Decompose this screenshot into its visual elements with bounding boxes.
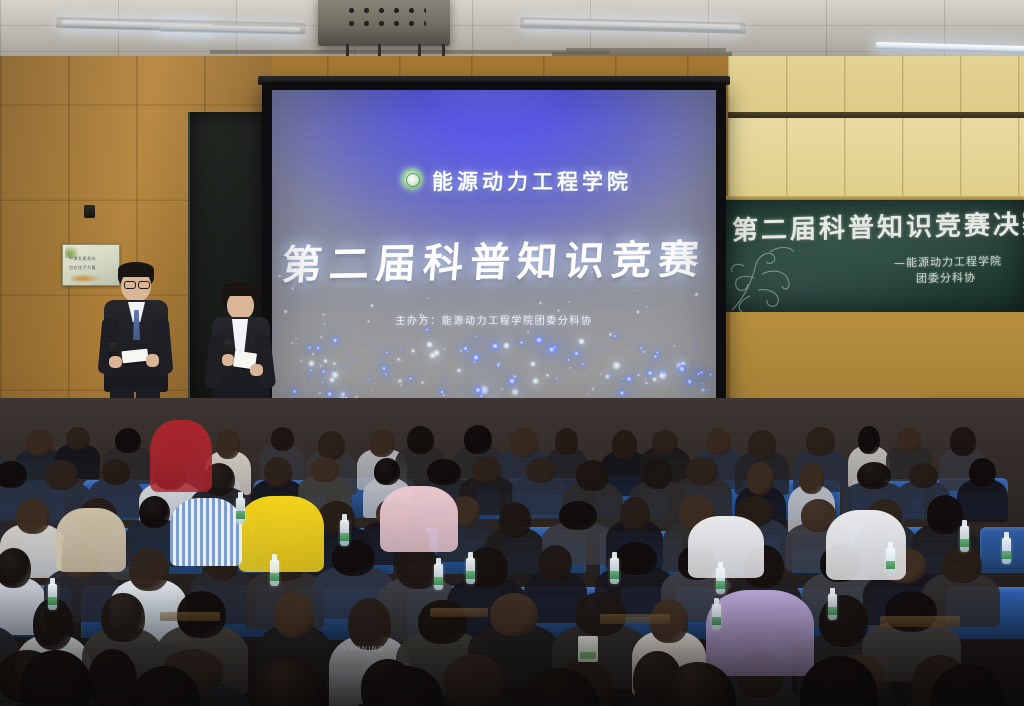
bottle-label — [712, 617, 721, 625]
audience-member-head — [539, 545, 572, 580]
audience-member-head — [45, 460, 78, 490]
ceiling-projector-icon — [318, 0, 450, 46]
audience-member-head — [139, 496, 170, 528]
audience-member-head — [909, 463, 938, 488]
audience-member-head — [969, 458, 996, 487]
audience-member-head — [271, 427, 294, 451]
audience-member-head — [129, 548, 169, 591]
bottle-label — [236, 511, 245, 519]
audience-lavender-hoodie — [706, 590, 814, 676]
lecture-hall-photo: 中津名尾贵的 包在化子力量 第二届科普知识竞赛决赛 — — [0, 0, 1024, 706]
bottle-label — [434, 577, 443, 585]
audience-member-head — [526, 458, 555, 484]
blackboard: 第二届科普知识竞赛决赛 —能源动力工程学院 团委分科协 — [724, 200, 1024, 312]
audience-member-head — [652, 430, 678, 454]
audience-member-head — [407, 426, 434, 454]
chalk-floral-flourish-icon — [726, 244, 841, 312]
audience-member-head — [0, 461, 27, 488]
desk-surface — [600, 614, 670, 624]
water-bottle-icon — [236, 498, 245, 524]
wall-fixture-icon — [84, 205, 95, 218]
hand-left — [109, 356, 122, 368]
water-bottle-icon — [340, 520, 349, 546]
water-bottle-icon — [270, 560, 279, 586]
desk-surface — [160, 612, 220, 621]
water-bottle-icon — [960, 526, 969, 552]
bottle-label — [1002, 551, 1011, 559]
audience-member-head — [427, 459, 460, 486]
hand-right — [146, 354, 159, 367]
audience-member-head — [374, 458, 400, 485]
audience-member-head — [612, 430, 638, 460]
audience-member-head — [509, 428, 539, 456]
bottle-label — [340, 533, 349, 541]
audience-member-head — [274, 592, 314, 639]
water-bottle-icon — [434, 564, 443, 590]
audience-member-head — [348, 598, 391, 650]
eyeglasses-icon — [138, 281, 150, 289]
bottle-label — [610, 571, 619, 579]
audience-member-head — [216, 429, 240, 458]
audience-member-head — [26, 430, 53, 456]
audience-yellow-jacket — [238, 496, 324, 572]
audience-member-head — [311, 457, 340, 483]
audience-member-head — [927, 495, 963, 533]
audience-member-head — [614, 542, 657, 576]
audience-area: LEARNING — [0, 398, 1024, 706]
audience-member-head — [102, 459, 131, 485]
audience-member-head — [559, 501, 597, 530]
water-bottle-icon — [716, 568, 725, 594]
audience-pink-hoodie — [380, 486, 458, 552]
blackboard-title: 第二届科普知识竞赛决赛 — [732, 204, 1024, 248]
audience-member-head — [643, 458, 673, 489]
audience-member-head — [858, 426, 880, 454]
audience-red-jacket — [150, 420, 212, 492]
shirt-print-text: LEARNING — [338, 646, 385, 653]
audience-member-head — [101, 593, 144, 642]
audience-member-head — [806, 427, 835, 457]
bottle-label — [716, 581, 725, 589]
bottle-label — [48, 597, 57, 605]
audience-striped-shirt — [170, 498, 242, 566]
water-bottle-icon — [466, 558, 475, 584]
blackboard-subtitle-line-2: 团委分科协 — [894, 268, 1024, 287]
projector-vents — [344, 4, 426, 30]
audience-member-head — [706, 428, 731, 456]
water-bottle-icon — [886, 548, 895, 574]
audience-member-head — [264, 457, 292, 487]
blackboard-subtitle: —能源动力工程学院 团委分科协 — [894, 252, 1024, 287]
milk-carton-icon — [578, 636, 598, 662]
hair-front — [221, 282, 259, 296]
ceiling-beam — [210, 50, 610, 54]
audience-white-hoodie — [688, 516, 764, 578]
audience-member-head — [66, 427, 90, 450]
audience-member-head — [686, 457, 718, 485]
screen-vignette — [272, 90, 716, 422]
audience-member-head — [369, 429, 395, 457]
water-bottle-icon — [712, 604, 721, 630]
audience-member-head — [819, 595, 868, 647]
audience-member-head — [472, 457, 502, 484]
bottle-label — [828, 607, 837, 615]
hair-front — [118, 262, 154, 277]
audience-member-head — [332, 540, 375, 575]
audience-member-head — [0, 548, 31, 587]
audience-member-head — [620, 497, 650, 530]
audience-member-head — [950, 427, 975, 456]
bottle-label — [270, 573, 279, 581]
audience-member-head — [444, 654, 504, 706]
audience-member-head — [499, 502, 531, 538]
water-bottle-icon — [610, 558, 619, 584]
audience-member-head — [748, 430, 777, 459]
bottle-label — [466, 571, 475, 579]
bottle-label — [960, 539, 969, 547]
audience-member-head — [115, 428, 141, 454]
water-bottle-icon — [1002, 538, 1011, 564]
audience-member-head — [318, 431, 345, 460]
audience-beige-coat — [56, 508, 126, 572]
projection-screen: 能源动力工程学院 第二届科普知识竞赛 主办方：能源动力工程学院团委分科协 — [272, 90, 716, 422]
audience-member-head — [490, 593, 538, 636]
water-bottle-icon — [48, 584, 57, 610]
desk-surface — [430, 608, 488, 617]
audience-member-head — [897, 428, 921, 452]
desk-surface — [880, 616, 960, 627]
audience-member-head — [555, 428, 578, 455]
bottle-label — [886, 561, 895, 569]
audience-member-head — [576, 460, 608, 491]
water-bottle-icon — [828, 594, 837, 620]
audience-member-head — [799, 462, 824, 495]
audience-member-head — [464, 425, 492, 453]
carton-label — [580, 652, 596, 659]
audience-member-head — [857, 462, 891, 490]
eyeglasses-icon — [124, 281, 136, 289]
audience-member-head — [16, 498, 51, 534]
audience-member-head — [747, 462, 774, 495]
audience-member-head — [941, 547, 982, 583]
hand-right — [250, 364, 263, 376]
